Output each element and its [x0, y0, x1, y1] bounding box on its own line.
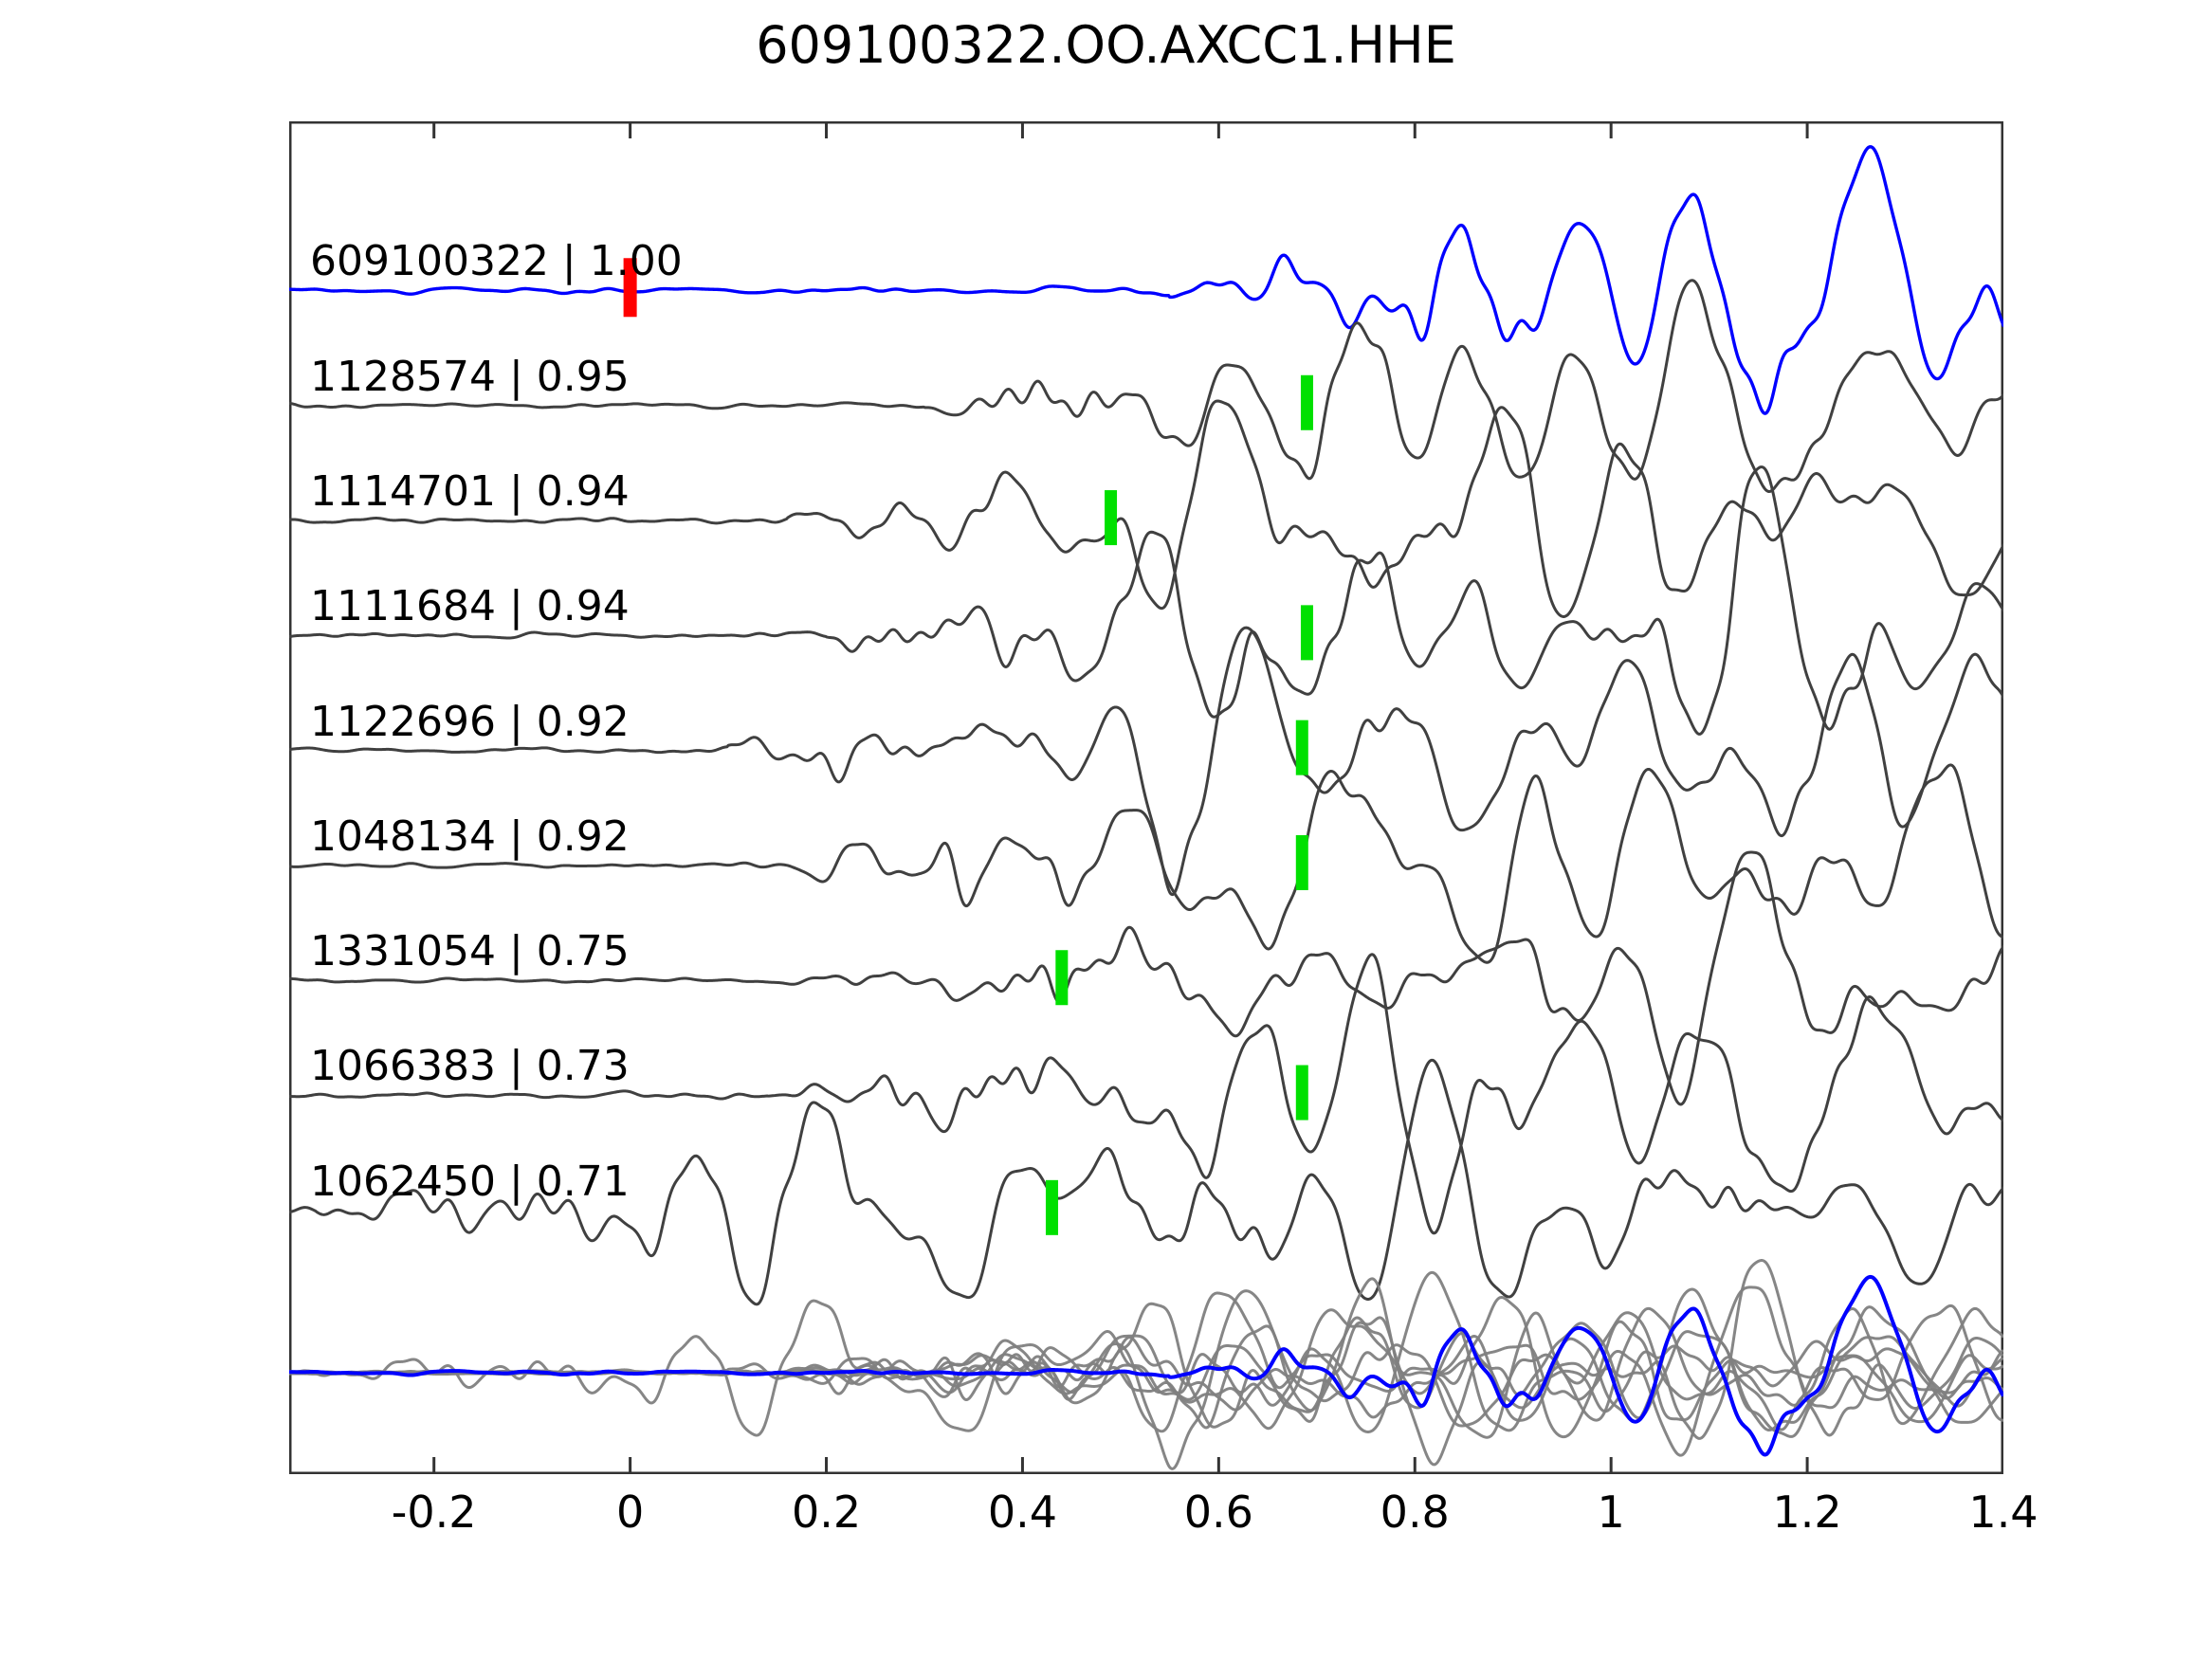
trace-label-1066383: 1066383 | 0.73 [310, 1042, 630, 1090]
detection-pick-marker-1331054[interactable] [1055, 950, 1068, 1005]
detection-pick-marker-1114701[interactable] [1105, 490, 1117, 545]
trace-label-609100322: 609100322 | 1.00 [310, 237, 683, 285]
figure-root: 609100322.OO.AXCC1.HHE 609100322 | 1.001… [0, 0, 2212, 1659]
stack-overlay-panel [289, 1261, 2003, 1469]
stack-gray-trace-1114701 [289, 1293, 2003, 1437]
waveform-canvas [289, 121, 2003, 1474]
detection-pick-marker-1122696[interactable] [1296, 720, 1308, 775]
trace-label-1331054: 1331054 | 0.75 [310, 927, 630, 975]
x-tick-label-1: 0 [616, 1486, 644, 1538]
detection-pick-marker-1048134[interactable] [1296, 835, 1308, 890]
x-tick-label-5: 0.8 [1380, 1486, 1450, 1538]
x-tick-label-6: 1 [1598, 1486, 1625, 1538]
x-tick-label-3: 0.4 [988, 1486, 1057, 1538]
trace-label-1048134: 1048134 | 0.92 [310, 812, 630, 861]
x-tick-label-7: 1.2 [1773, 1486, 1842, 1538]
detection-pick-marker-1128574[interactable] [1301, 375, 1313, 430]
x-tick-label-0: -0.2 [392, 1486, 477, 1538]
trace-label-1128574: 1128574 | 0.95 [310, 353, 630, 401]
trace-label-1111684: 1111684 | 0.94 [310, 582, 630, 630]
x-tick-label-2: 0.2 [792, 1486, 861, 1538]
x-axis-tick-labels: -0.200.20.40.60.811.21.4 [289, 1486, 2003, 1562]
x-tick-label-4: 0.6 [1184, 1486, 1253, 1538]
detection-pick-marker-1111684[interactable] [1301, 605, 1313, 660]
plot-axes: 609100322 | 1.001128574 | 0.951114701 | … [289, 121, 2003, 1474]
detection-pick-marker-1062450[interactable] [1046, 1180, 1058, 1235]
x-tick-label-8: 1.4 [1968, 1486, 2038, 1538]
detection-pick-marker-1066383[interactable] [1296, 1066, 1308, 1121]
trace-label-1114701: 1114701 | 0.94 [310, 467, 630, 516]
trace-label-1122696: 1122696 | 0.92 [310, 698, 630, 746]
page-title: 609100322.OO.AXCC1.HHE [0, 15, 2212, 75]
trace-label-1062450: 1062450 | 0.71 [310, 1158, 630, 1206]
stack-gray-trace-1062450 [289, 1272, 2003, 1435]
